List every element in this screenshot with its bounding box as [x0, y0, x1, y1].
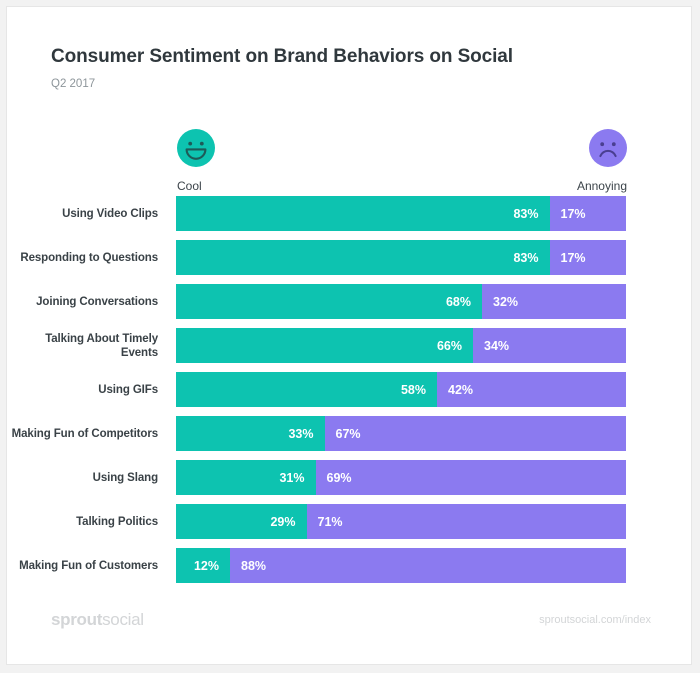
row-label: Making Fun of Customers	[7, 548, 158, 583]
bar-track: 68%32%	[176, 284, 626, 319]
smiling-face-icon	[177, 129, 297, 172]
row-label: Talking Politics	[7, 504, 158, 539]
chart-row: Using Slang31%69%	[7, 460, 693, 495]
source-url: sproutsocial.com/index	[539, 613, 651, 627]
legend-label-cool: Cool	[177, 179, 297, 193]
bar-segment-cool: 68%	[176, 284, 482, 319]
bar-track: 29%71%	[176, 504, 626, 539]
bar-segment-annoying: 17%	[550, 196, 627, 231]
chart-row: Using GIFs58%42%	[7, 372, 693, 407]
row-label: Using GIFs	[7, 372, 158, 407]
bar-segment-annoying: 17%	[550, 240, 627, 275]
bar-segment-annoying: 42%	[437, 372, 626, 407]
bar-track: 12%88%	[176, 548, 626, 583]
frowning-face-icon	[507, 129, 627, 172]
stacked-bar-chart: Using Video Clips83%17%Responding to Que…	[7, 196, 693, 592]
chart-header: Consumer Sentiment on Brand Behaviors on…	[51, 45, 651, 91]
bar-track: 31%69%	[176, 460, 626, 495]
bar-track: 33%67%	[176, 416, 626, 451]
bar-segment-annoying: 34%	[473, 328, 626, 363]
row-label: Joining Conversations	[7, 284, 158, 319]
bar-segment-cool: 83%	[176, 196, 550, 231]
bar-track: 83%17%	[176, 196, 626, 231]
bar-segment-cool: 29%	[176, 504, 307, 539]
legend-item-annoying: Annoying	[507, 129, 627, 193]
row-label: Making Fun of Competitors	[7, 416, 158, 451]
row-label: Responding to Questions	[7, 240, 158, 275]
chart-row: Joining Conversations68%32%	[7, 284, 693, 319]
chart-legend: Cool Annoying	[177, 129, 627, 191]
chart-subtitle: Q2 2017	[51, 77, 651, 91]
chart-row: Responding to Questions83%17%	[7, 240, 693, 275]
bar-segment-annoying: 32%	[482, 284, 626, 319]
chart-row: Making Fun of Customers12%88%	[7, 548, 693, 583]
sproutsocial-logo: sproutsocial	[51, 610, 144, 630]
chart-footer: sproutsocial sproutsocial.com/index	[51, 610, 651, 630]
chart-row: Talking Politics29%71%	[7, 504, 693, 539]
logo-word-sprout: sprout	[51, 610, 102, 629]
bar-segment-cool: 33%	[176, 416, 325, 451]
legend-item-cool: Cool	[177, 129, 297, 193]
bar-segment-cool: 58%	[176, 372, 437, 407]
bar-track: 66%34%	[176, 328, 626, 363]
row-label: Using Video Clips	[7, 196, 158, 231]
bar-segment-annoying: 67%	[325, 416, 627, 451]
bar-segment-cool: 66%	[176, 328, 473, 363]
logo-word-social: social	[102, 610, 144, 629]
bar-segment-annoying: 88%	[230, 548, 626, 583]
bar-track: 58%42%	[176, 372, 626, 407]
page-title: Consumer Sentiment on Brand Behaviors on…	[51, 45, 651, 69]
bar-segment-cool: 83%	[176, 240, 550, 275]
bar-segment-cool: 31%	[176, 460, 316, 495]
bar-track: 83%17%	[176, 240, 626, 275]
bar-segment-cool: 12%	[176, 548, 230, 583]
row-label: Talking About Timely Events	[7, 328, 158, 363]
bar-segment-annoying: 69%	[316, 460, 627, 495]
chart-row: Making Fun of Competitors33%67%	[7, 416, 693, 451]
legend-label-annoying: Annoying	[507, 179, 627, 193]
row-label: Using Slang	[7, 460, 158, 495]
bar-segment-annoying: 71%	[307, 504, 627, 539]
chart-row: Using Video Clips83%17%	[7, 196, 693, 231]
chart-card: Consumer Sentiment on Brand Behaviors on…	[6, 6, 692, 665]
chart-row: Talking About Timely Events66%34%	[7, 328, 693, 363]
